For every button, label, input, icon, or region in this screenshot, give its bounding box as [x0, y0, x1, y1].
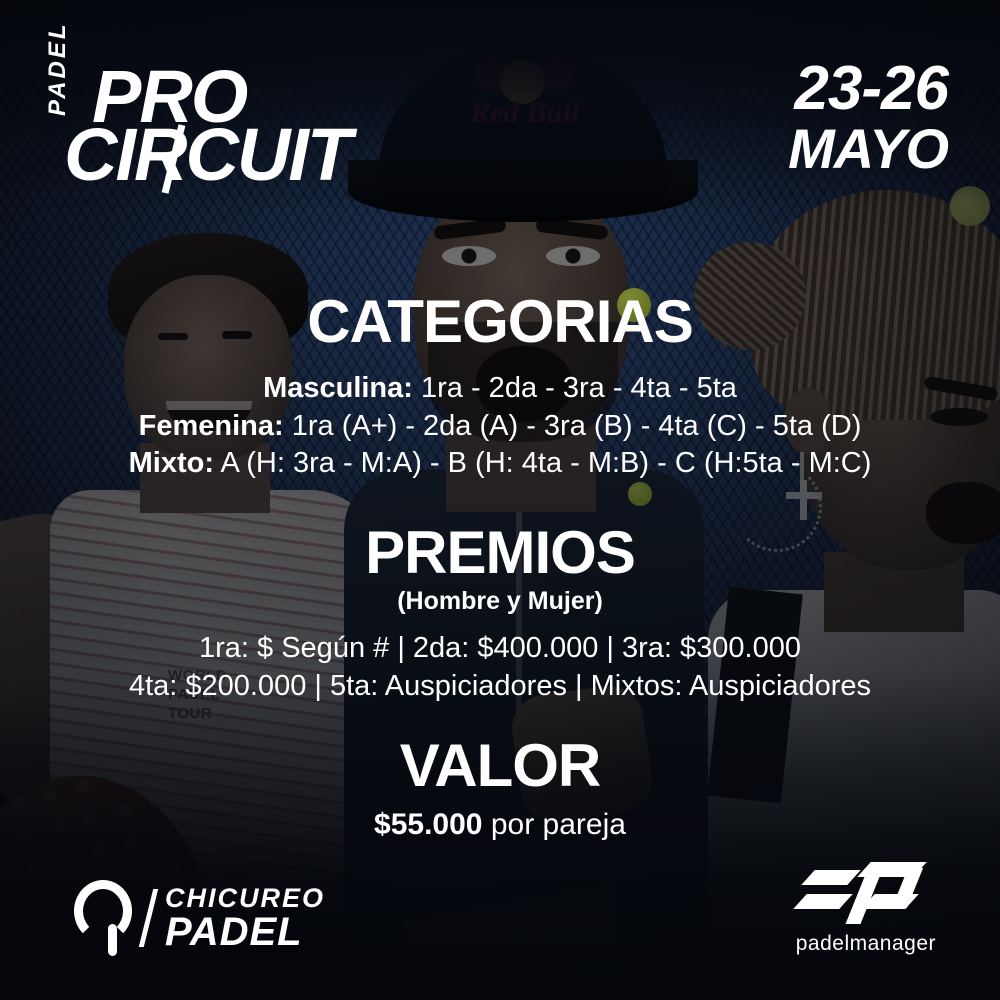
categorias-heading: CATEGORIAS: [0, 292, 1000, 352]
event-logo: PADEL PRO CIRCUIT: [60, 58, 480, 178]
event-date: 23-26 MAYO: [788, 58, 948, 179]
valor-amount: $55.000: [374, 808, 482, 841]
event-date-days: 23-26: [788, 58, 948, 120]
padelmanager-mark-icon: [802, 862, 930, 924]
pm-stroke-a: [801, 870, 861, 885]
premios-row-2: 4ta: $200.000 | 5ta: Auspiciadores | Mix…: [0, 668, 1000, 706]
categoria-label-femenina: Femenina:: [139, 410, 284, 442]
section-premios: PREMIOS (Hombre y Mujer) 1ra: $ Según # …: [0, 523, 1000, 705]
logo-line-circuit: CIRCUIT: [64, 122, 350, 189]
categoria-row-femenina: Femenina: 1ra (A+) - 2da (A) - 3ra (B) -…: [0, 408, 1000, 446]
valor-heading: VALOR: [0, 736, 1000, 796]
logo-divider: [139, 889, 158, 947]
categoria-row-mixto: Mixto: A (H: 3ra - M:A) - B (H: 4ta - M:…: [0, 445, 1000, 483]
logo-vertical-word: PADEL: [44, 21, 72, 116]
tournament-poster: WORLD PADEL TOUR Red Bull Adeslas SHOT T…: [0, 0, 1000, 1000]
categoria-label-masculina: Masculina:: [263, 372, 413, 404]
padelmanager-wordmark: padelmanager: [796, 932, 936, 956]
categoria-row-masculina: Masculina: 1ra - 2da - 3ra - 4ta - 5ta: [0, 370, 1000, 408]
poster-content: PADEL PRO CIRCUIT 23-26 MAYO CATEGORIAS …: [0, 0, 1000, 1000]
premios-subheading: (Hombre y Mujer): [0, 587, 1000, 616]
valor-unit: por pareja: [491, 808, 626, 841]
categoria-value-mixto: A (H: 3ra - M:A) - B (H: 4ta - M:B) - C …: [220, 447, 871, 479]
categorias-lines: Masculina: 1ra - 2da - 3ra - 4ta - 5ta F…: [0, 370, 1000, 483]
section-categorias: CATEGORIAS Masculina: 1ra - 2da - 3ra - …: [0, 292, 1000, 483]
premios-row-1: 1ra: $ Según # | 2da: $400.000 | 3ra: $3…: [0, 630, 1000, 668]
racket-handle-shape: [108, 924, 117, 956]
categoria-value-femenina: 1ra (A+) - 2da (A) - 3ra (B) - 4ta (C) -…: [292, 410, 862, 442]
pm-stroke-b: [793, 894, 853, 909]
categoria-label-mixto: Mixto:: [129, 447, 214, 479]
premios-lines: 1ra: $ Según # | 2da: $400.000 | 3ra: $3…: [0, 630, 1000, 705]
padel-racket-icon: [74, 880, 136, 956]
event-date-month: MAYO: [788, 120, 948, 179]
chicureo-padel-wordmark: CHICUREO PADEL: [165, 885, 325, 952]
racket-head-shape: [74, 880, 132, 942]
valor-line: $55.000 por pareja: [0, 808, 1000, 842]
premios-heading: PREMIOS: [0, 523, 1000, 583]
section-valor: VALOR $55.000 por pareja: [0, 736, 1000, 842]
padelmanager-logo: padelmanager: [796, 862, 936, 956]
chicureo-text: CHICUREO: [165, 885, 325, 912]
padel-text: PADEL: [165, 912, 325, 952]
chicureo-padel-logo: CHICUREO PADEL: [74, 880, 325, 956]
categoria-value-masculina: 1ra - 2da - 3ra - 4ta - 5ta: [421, 372, 737, 404]
